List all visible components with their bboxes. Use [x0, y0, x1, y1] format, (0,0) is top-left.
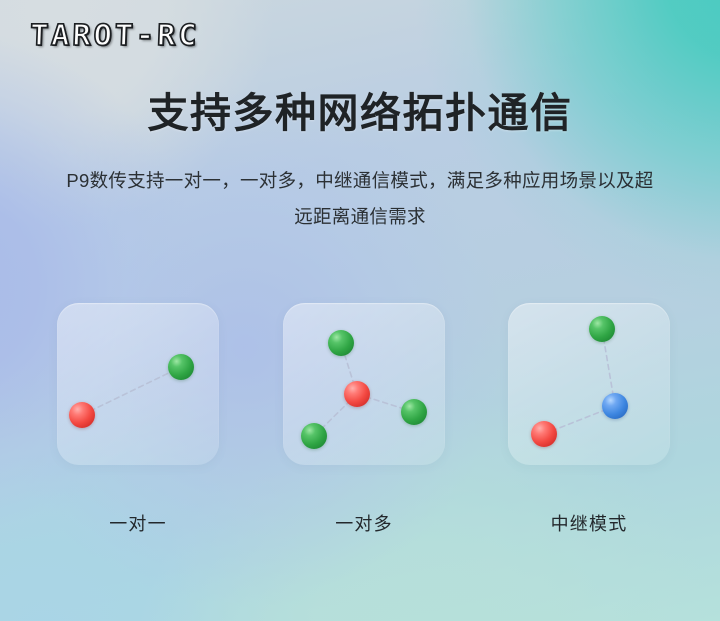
promo-page: TAROT-RC 支持多种网络拓扑通信 P9数传支持一对一，一对多，中继通信模式…	[0, 0, 720, 621]
topology-node-blue	[602, 393, 628, 419]
topology-link	[82, 367, 181, 415]
topology-node-green	[168, 354, 194, 380]
topology-diagram-relay	[508, 303, 670, 465]
topology-card-label: 一对一	[57, 510, 219, 536]
topology-node-green	[401, 399, 427, 425]
topology-card-label: 中继模式	[508, 510, 670, 536]
topology-node-green	[328, 330, 354, 356]
topology-card-one-to-one: 一对一	[57, 303, 219, 465]
topology-node-red	[344, 381, 370, 407]
topology-node-green	[589, 316, 615, 342]
page-subtitle: P9数传支持一对一，一对多，中继通信模式，满足多种应用场景以及超远距离通信需求	[60, 163, 660, 235]
topology-node-red	[531, 421, 557, 447]
topology-card-label: 一对多	[283, 510, 445, 536]
topology-links	[57, 303, 219, 465]
topology-diagram-one-to-many	[283, 303, 445, 465]
brand-logo: TAROT-RC	[29, 18, 200, 52]
topology-diagram-one-to-one	[57, 303, 219, 465]
topology-card-relay: 中继模式	[508, 303, 670, 465]
page-title: 支持多种网络拓扑通信	[0, 79, 720, 139]
topology-node-red	[69, 402, 95, 428]
topology-node-green	[301, 423, 327, 449]
topology-card-one-to-many: 一对多	[283, 303, 445, 465]
